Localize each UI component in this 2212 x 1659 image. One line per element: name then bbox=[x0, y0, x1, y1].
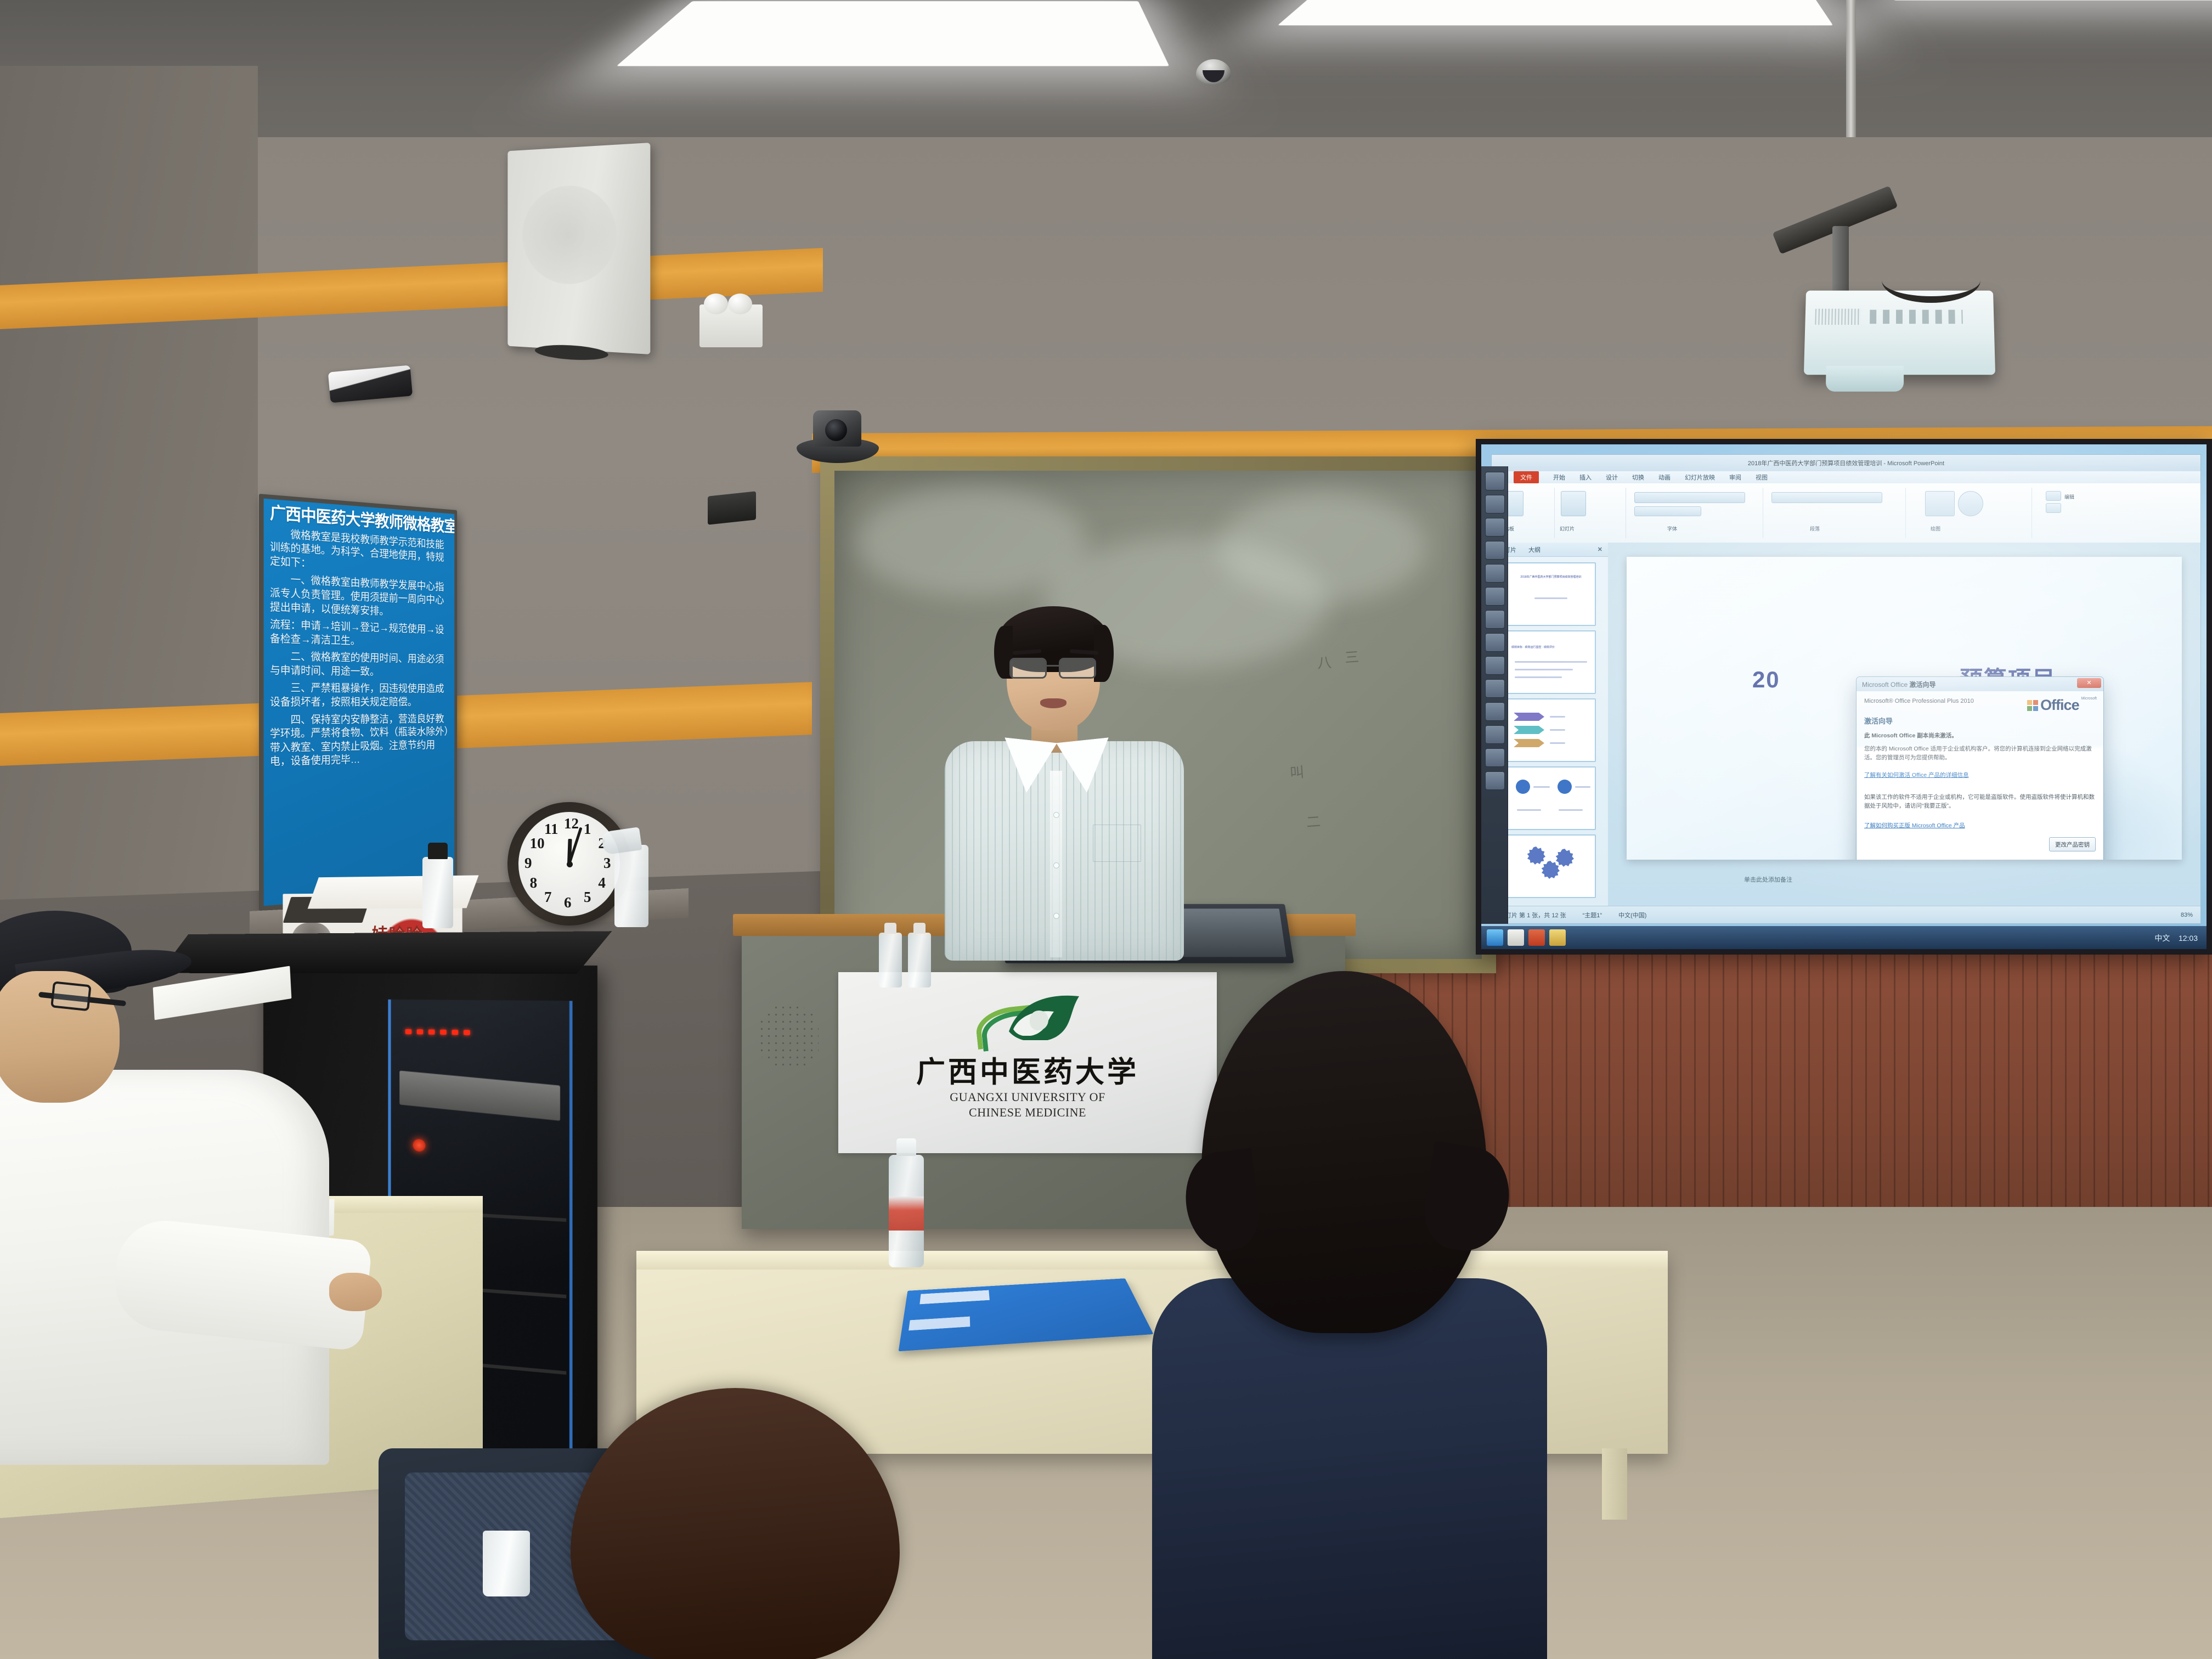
office-logo: Office Microsoft bbox=[2027, 697, 2097, 714]
clock-numeral: 10 bbox=[530, 835, 545, 852]
spray-bottle bbox=[614, 845, 648, 927]
notice-board: 广西中医药大学教师微格教室管理规定 微格教室是我校教师教学示范和技能训练的基地。… bbox=[259, 494, 457, 911]
mouth bbox=[1040, 698, 1066, 708]
dialog-link-1[interactable]: 了解有关如何激活 Office 产品的详细信息 bbox=[1864, 771, 2096, 780]
taskbar-time[interactable]: 12:03 bbox=[2179, 934, 2198, 943]
eyeglasses-icon bbox=[1009, 658, 1096, 676]
dialog-title-bold: 激活向导 bbox=[1909, 681, 1936, 689]
ppt-tab[interactable]: 设计 bbox=[1606, 473, 1618, 482]
thumb-text: 绩效目标 · 绩效运行监控 · 绩效评价 bbox=[1511, 646, 1590, 650]
eyeglasses-icon bbox=[38, 992, 126, 1007]
projector-cable bbox=[1882, 258, 1980, 303]
water-bottle bbox=[908, 933, 931, 988]
audience-member-center bbox=[1130, 971, 1569, 1659]
dialog-body-3: 如果该工作的软件不适用于企业或机构，它可能是盗版软件。使用盗版软件将使计算机和数… bbox=[1864, 793, 2096, 811]
office-tm: Microsoft bbox=[2081, 697, 2097, 701]
clock-numeral: 6 bbox=[564, 894, 572, 911]
ribbon-group-label: 段落 bbox=[1810, 525, 1820, 532]
university-name-en-line2: CHINESE MEDICINE bbox=[969, 1105, 1086, 1119]
text-tool-icon[interactable] bbox=[1485, 771, 1505, 790]
lectern-speaker-grille bbox=[758, 1004, 819, 1070]
current-slide[interactable]: 20 预算项目 Microsoft Office 激活向导 ✕ Micros bbox=[1627, 557, 2182, 860]
audience-member-left bbox=[0, 889, 373, 1659]
projector-mount-pole bbox=[1832, 226, 1849, 297]
rack-status-leds bbox=[405, 1027, 511, 1034]
wall-sensor bbox=[708, 491, 756, 524]
pen-tool-icon[interactable] bbox=[1485, 472, 1505, 490]
undo-tool-icon[interactable] bbox=[1485, 748, 1505, 767]
status-theme: “主题1” bbox=[1583, 911, 1602, 919]
status-zoom-level[interactable]: 83% bbox=[2181, 912, 2193, 918]
eraser-icon[interactable] bbox=[1485, 633, 1505, 652]
projector-ports bbox=[1870, 310, 1963, 324]
arrow-back-icon[interactable] bbox=[1485, 495, 1505, 513]
taskbar-ime[interactable]: 中文 bbox=[2154, 934, 2170, 943]
clock-numeral: 3 bbox=[603, 855, 611, 872]
clock-numeral: 4 bbox=[598, 874, 606, 891]
clock-numeral: 7 bbox=[544, 889, 552, 906]
ppt-ribbon-tabs[interactable]: 文件 开始 插入 设计 切换 动画 幻灯片放映 审阅 视图 bbox=[1492, 471, 2200, 483]
change-product-key-button[interactable]: 更改产品密钥 bbox=[2049, 837, 2096, 851]
select-tool-icon[interactable] bbox=[1485, 541, 1505, 560]
ppt-tab[interactable]: 幻灯片放映 bbox=[1685, 473, 1715, 482]
notice-rule: 三、严禁粗暴操作，因违规使用造成设备损坏者，按照相关规定赔偿。 bbox=[270, 682, 449, 710]
shirt-pocket bbox=[1093, 825, 1141, 862]
dialog-heading: 激活向导 bbox=[1864, 715, 1893, 726]
notes-placeholder[interactable]: 单击此处添加备注 bbox=[1744, 875, 1792, 884]
dialog-body-1: 此 Microsoft Office 副本尚未激活。 bbox=[1864, 732, 2096, 741]
emergency-light bbox=[699, 304, 763, 347]
clock-numeral: 5 bbox=[584, 889, 591, 906]
clock-numeral: 12 bbox=[564, 815, 579, 832]
settings-tool-icon[interactable] bbox=[1485, 725, 1505, 744]
ppt-tab[interactable]: 动画 bbox=[1658, 473, 1671, 482]
notice-rule: 二、微格教室的使用时间、用途必须与申请时间、用途一致。 bbox=[270, 650, 449, 680]
ppt-ribbon[interactable]: 剪贴板 幻灯片 字体 段落 绘图 编辑 bbox=[1492, 483, 2200, 543]
arrow-forward-icon[interactable] bbox=[1485, 518, 1505, 537]
pane-tab-strip[interactable]: 幻灯片 大纲 ✕ bbox=[1492, 543, 1608, 557]
ribbon-group-label: 字体 bbox=[1667, 525, 1677, 532]
office-wordmark: Office bbox=[2040, 697, 2079, 714]
thumb-text: 2018年广西中医药大学部门预算项目绩效管理培训 bbox=[1511, 575, 1590, 580]
ppt-tab[interactable]: 插入 bbox=[1579, 473, 1592, 482]
shapes-tool-icon[interactable] bbox=[1485, 656, 1505, 675]
wall-clock: 121234567891011 bbox=[507, 802, 631, 926]
university-emblem-icon bbox=[973, 991, 1082, 1046]
water-bottle bbox=[879, 933, 902, 988]
dialog-product-name: Microsoft® Office Professional Plus 2010 bbox=[1864, 698, 1974, 704]
hair bbox=[571, 1388, 900, 1659]
interactive-whiteboard-toolbar[interactable] bbox=[1481, 466, 1508, 924]
dialog-link-2[interactable]: 了解如何购买正版 Microsoft Office 产品 bbox=[1864, 822, 2096, 831]
ppt-tab[interactable]: 切换 bbox=[1632, 473, 1644, 482]
close-pane-icon[interactable]: ✕ bbox=[1598, 546, 1602, 553]
ceiling-light-panel bbox=[617, 1, 1170, 66]
ceiling-light-panel bbox=[1278, 0, 1833, 25]
dialog-titlebar: Microsoft Office 激活向导 ✕ bbox=[1857, 677, 2103, 692]
ceiling-dome-camera-icon bbox=[1196, 59, 1231, 84]
slide-thumbnail[interactable]: 5 bbox=[1506, 834, 1596, 898]
classroom-scene: 广西中医药大学教师微格教室管理规定 微格教室是我校教师教学示范和技能训练的基地。… bbox=[0, 0, 2212, 1659]
slide-thumbnail[interactable]: 3 bbox=[1506, 698, 1596, 762]
ppt-tab[interactable]: 开始 bbox=[1553, 473, 1565, 482]
presenter bbox=[933, 606, 1196, 957]
camera-lens-icon bbox=[825, 419, 847, 441]
dialog-title-plain: Microsoft Office bbox=[1862, 681, 1909, 689]
emergency-lamp-icon bbox=[728, 294, 752, 314]
taskbar-clock[interactable]: 中文 12:03 bbox=[2154, 933, 2198, 944]
tab-outline[interactable]: 大纲 bbox=[1528, 545, 1541, 554]
slide-title-left: 20 bbox=[1752, 667, 1780, 692]
projector-lens-housing bbox=[1826, 366, 1904, 392]
ribbon-group-label: 绘图 bbox=[1931, 525, 1940, 532]
projector-vent bbox=[1815, 309, 1861, 325]
cursor-tool-icon[interactable] bbox=[1485, 564, 1505, 583]
ppt-tab[interactable]: 审阅 bbox=[1729, 473, 1741, 482]
start-button-icon[interactable] bbox=[1487, 929, 1503, 946]
folder-taskbar-icon[interactable] bbox=[1549, 929, 1566, 946]
dialog-body-2: 您的本的 Microsoft Office 适用于企业或机构客户。将您的计算机连… bbox=[1864, 745, 2096, 763]
emergency-lamp-icon bbox=[704, 294, 728, 314]
rack-power-led bbox=[413, 1139, 425, 1152]
hair bbox=[1201, 971, 1487, 1333]
slide-thumbnail[interactable]: 1 2018年广西中医药大学部门预算项目绩效管理培训 bbox=[1506, 562, 1596, 626]
projection-screen[interactable]: 2018年广西中医药大学部门预算项目绩效管理培训 - Microsoft Pow… bbox=[1481, 444, 2207, 949]
squeeze-bottle bbox=[422, 857, 453, 928]
windows-taskbar[interactable]: 中文 12:03 bbox=[1481, 926, 2207, 949]
marker-icon[interactable] bbox=[1485, 610, 1505, 629]
ceiling-projector bbox=[1804, 291, 1995, 375]
notice-rule: 一、微格教室由教师教学发展中心指派专人负责管理。使用须提前一周向中心提出申请，以… bbox=[270, 572, 449, 620]
hand bbox=[329, 1273, 382, 1311]
navy-top bbox=[1152, 1278, 1547, 1659]
slide-thumbnail[interactable]: 4 bbox=[1506, 766, 1596, 830]
notice-rule: 流程：申请→培训→登记→规范使用→设备检查→清洁卫生。 bbox=[270, 618, 449, 650]
paper-cup bbox=[483, 1531, 530, 1596]
audience-member-front bbox=[571, 1388, 900, 1659]
notice-rule: 四、保持室内安静整洁，营造良好教学环境。严禁将食物、饮料（瓶装水除外）带入教室、… bbox=[270, 713, 449, 769]
capture-tool-icon[interactable] bbox=[1485, 679, 1505, 698]
ppt-tab[interactable]: 视图 bbox=[1756, 473, 1768, 482]
ppt-file-tab[interactable]: 文件 bbox=[1514, 471, 1539, 483]
powerpoint-taskbar-icon[interactable] bbox=[1528, 929, 1545, 946]
clock-numeral: 8 bbox=[530, 874, 538, 891]
projection-screen-frame: 2018年广西中医药大学部门预算项目绩效管理培训 - Microsoft Pow… bbox=[1476, 439, 2212, 955]
clock-numeral: 11 bbox=[544, 821, 558, 838]
notice-intro: 微格教室是我校教师教学示范和技能训练的基地。为科学、合理地使用，特规定如下： bbox=[270, 527, 449, 578]
status-language: 中文(中国) bbox=[1618, 911, 1646, 919]
speaker-cone-icon bbox=[522, 184, 617, 285]
clock-numeral: 1 bbox=[584, 821, 591, 838]
wall-speaker bbox=[507, 143, 650, 354]
ribbon-group-label: 幻灯片 bbox=[1560, 525, 1575, 532]
ptz-conference-camera bbox=[797, 407, 879, 467]
close-icon[interactable]: ✕ bbox=[2077, 678, 2101, 688]
slide-thumbnail[interactable]: 2 绩效目标 · 绩效运行监控 · 绩效评价 bbox=[1506, 630, 1596, 694]
powerpoint-window[interactable]: 2018年广西中医药大学部门预算项目绩效管理培训 - Microsoft Pow… bbox=[1491, 454, 2201, 924]
ceiling-light-panel bbox=[1893, 0, 2212, 1]
clock-numeral: 9 bbox=[524, 855, 532, 872]
university-name-en-line1: GUANGXI UNIVERSITY OF bbox=[950, 1090, 1105, 1104]
slide-thumbnail-pane[interactable]: 幻灯片 大纲 ✕ 1 2018年广西中医药大学部门预算项目绩效管理培训 2 绩效… bbox=[1492, 543, 1609, 906]
presenter-shirt bbox=[945, 741, 1184, 961]
slide-editing-area[interactable]: 20 预算项目 Microsoft Office 激活向导 ✕ Micros bbox=[1608, 543, 2200, 906]
spotlight-tool-icon[interactable] bbox=[1485, 702, 1505, 721]
ribbon-group-label: 编辑 bbox=[2064, 493, 2074, 500]
clock-hub bbox=[567, 861, 573, 867]
status-slide-count: 幻灯片 第 1 张，共 12 张 bbox=[1499, 911, 1566, 919]
ppt-status-bar: 幻灯片 第 1 张，共 12 张 “主题1” 中文(中国) 83% bbox=[1492, 906, 2200, 923]
water-bottle bbox=[889, 1155, 924, 1267]
ppt-window-title: 2018年广西中医药大学部门预算项目绩效管理培训 - Microsoft Pow… bbox=[1492, 455, 2200, 472]
explorer-taskbar-icon[interactable] bbox=[1508, 929, 1524, 946]
office-activation-dialog[interactable]: Microsoft Office 激活向导 ✕ Microsoft® Offic… bbox=[1856, 676, 2104, 860]
highlighter-icon[interactable] bbox=[1485, 587, 1505, 606]
